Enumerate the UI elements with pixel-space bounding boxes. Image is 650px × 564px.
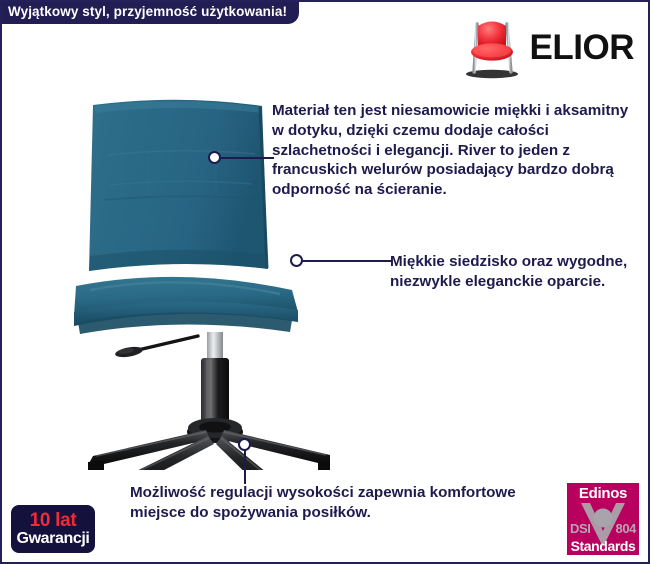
- promo-banner-page: Wyjątkowy styl, przyjemność użytkowania!: [0, 0, 650, 564]
- callout-dot-height: [238, 438, 251, 451]
- certification-title: Edinos: [567, 485, 639, 502]
- brand-logo: ELIOR: [462, 14, 634, 80]
- callout-text-height: Możliwość regulacji wysokości zapewnia k…: [130, 483, 560, 523]
- certification-left-code: DSI: [570, 521, 590, 536]
- brand-name: ELIOR: [530, 30, 634, 65]
- callout-leader-material: [220, 157, 274, 159]
- warranty-badge: 10 lat Gwarancji: [11, 505, 95, 553]
- callout-dot-material: [208, 151, 221, 164]
- warranty-years: 10 lat: [30, 511, 77, 530]
- callout-leader-seat: [302, 260, 392, 262]
- certification-footer: Standards: [567, 538, 639, 554]
- callout-text-seat: Miękkie siedzisko oraz wygodne, niezwykl…: [390, 252, 635, 292]
- callout-dot-seat: [290, 254, 303, 267]
- certification-badge: Edinos DSI 804 Standards: [567, 483, 639, 555]
- red-chair-icon: [462, 14, 524, 80]
- callout-text-material: Materiał ten jest niesamowicie miękki i …: [272, 101, 642, 200]
- headline-text: Wyjątkowy styl, przyjemność użytkowania!: [8, 4, 287, 19]
- certification-right-code: 804: [616, 521, 637, 536]
- warranty-label: Gwarancji: [17, 531, 90, 548]
- headline-banner: Wyjątkowy styl, przyjemność użytkowania!: [0, 0, 299, 24]
- callout-leader-height: [244, 450, 246, 484]
